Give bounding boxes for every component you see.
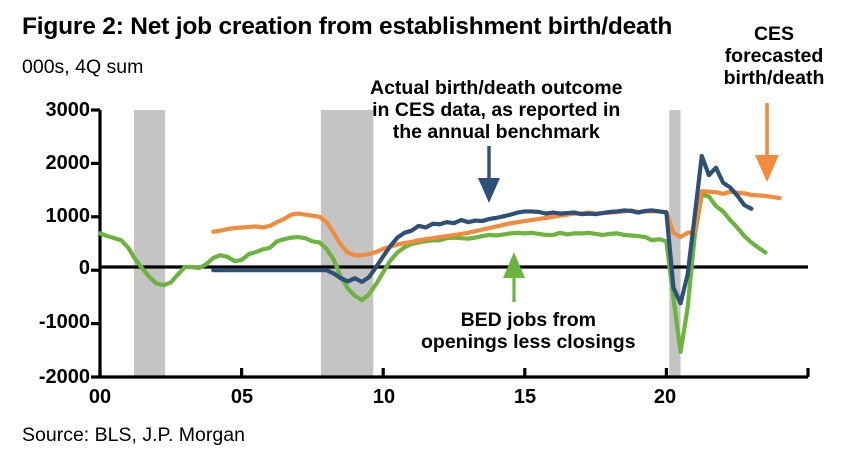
blue-annotation-arrow — [478, 146, 500, 203]
annotation-blue-line-3: the annual benchmark — [370, 122, 622, 144]
annotation-blue-series: Actual birth/death outcome in CES data, … — [370, 78, 622, 143]
annotation-blue-line-2: in CES data, as reported in — [370, 100, 622, 122]
annotation-orange-line-2: forecasted — [712, 46, 836, 68]
annotation-green-line-2: openings less closings — [421, 332, 636, 354]
x-tick-label: 00 — [80, 386, 120, 409]
annotation-orange-line-3: birth/death — [712, 68, 836, 90]
x-tick-label: 05 — [222, 386, 262, 409]
figure-source: Source: BLS, J.P. Morgan — [22, 424, 245, 447]
annotation-green-series: BED jobs from openings less closings — [421, 310, 636, 354]
figure-container: Figure 2: Net job creation from establis… — [0, 0, 852, 459]
y-tick-label: -2000 — [14, 366, 90, 389]
orange-annotation-arrow — [755, 103, 779, 182]
annotation-orange-series: CES forecasted birth/death — [712, 24, 836, 89]
y-tick-label: 0 — [14, 257, 90, 280]
green-annotation-arrow — [503, 252, 525, 302]
annotation-orange-line-1: CES — [712, 24, 836, 46]
y-tick-label: 2000 — [14, 152, 90, 175]
annotation-green-line-1: BED jobs from — [421, 310, 636, 332]
x-tick-label: 15 — [505, 386, 545, 409]
x-tick-label: 10 — [364, 386, 404, 409]
annotation-blue-line-1: Actual birth/death outcome — [370, 78, 622, 100]
recession-band — [321, 110, 373, 377]
y-tick-label: 3000 — [14, 99, 90, 122]
recession-band — [134, 110, 165, 377]
y-tick-label: 1000 — [14, 205, 90, 228]
y-tick-label: -1000 — [14, 311, 90, 334]
x-tick-label: 20 — [645, 386, 685, 409]
